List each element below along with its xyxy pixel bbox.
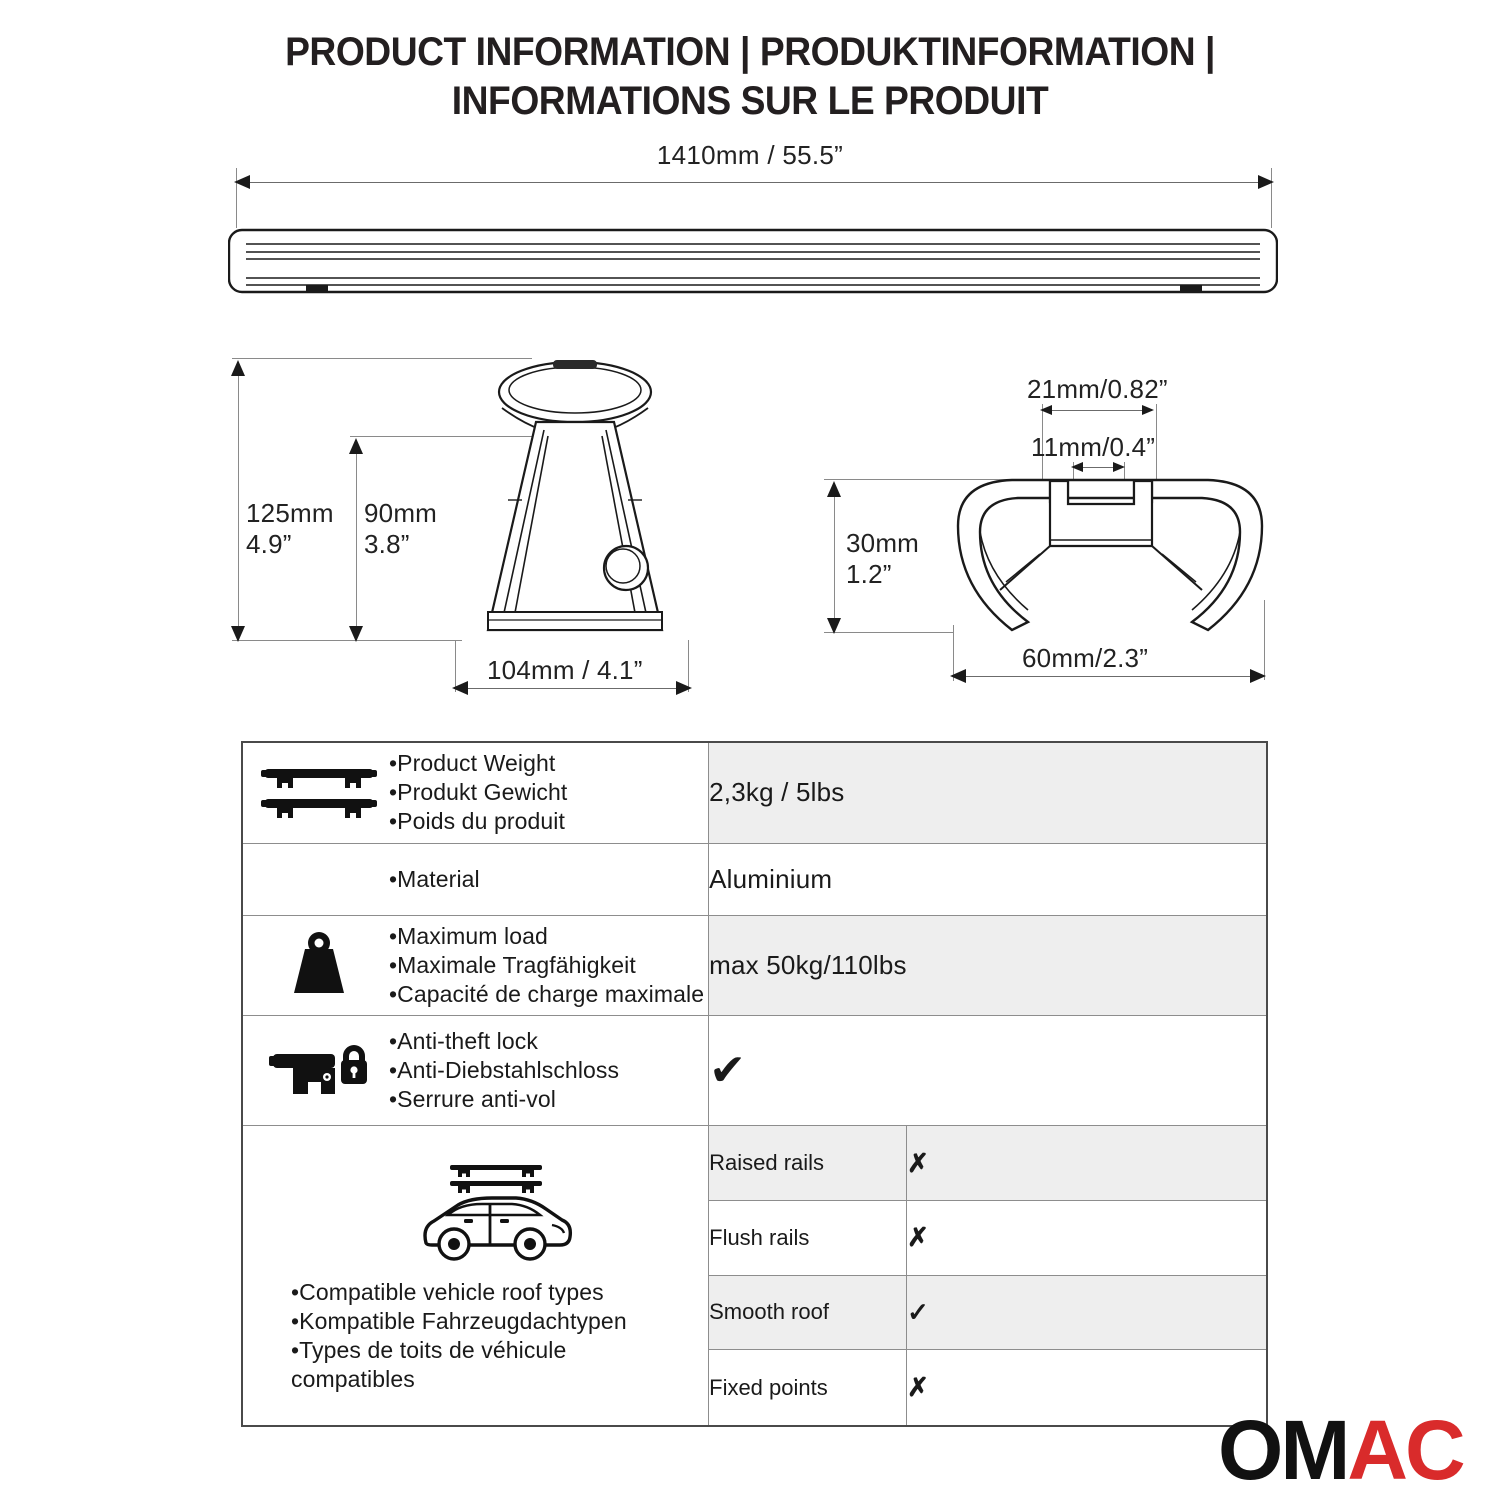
label-fr: •Serrure anti-vol xyxy=(389,1085,619,1114)
profile-ext-bottom xyxy=(824,632,954,633)
bar-length-label: 1410mm / 55.5” xyxy=(0,140,1500,171)
material-label-cell: •Material xyxy=(242,843,709,915)
label-de: •Maximale Tragfähigkeit xyxy=(389,951,704,980)
rooftype-name: Flush rails xyxy=(709,1200,907,1275)
arrow-left-icon xyxy=(1040,405,1052,415)
maxload-label-cell: •Maximum load •Maximale Tragfähigkeit •C… xyxy=(242,915,709,1016)
dim-base-width: 104mm / 4.1” xyxy=(487,655,643,686)
weight-icon xyxy=(253,931,385,999)
arrow-down-icon xyxy=(349,626,363,642)
arrow-right-icon xyxy=(1258,175,1274,189)
specification-table: •Product Weight •Produkt Gewicht •Poids … xyxy=(241,741,1268,1427)
label-fr-cont: compatibles xyxy=(291,1365,627,1394)
arrow-left-icon xyxy=(452,681,468,695)
dim-60-line xyxy=(960,676,1256,677)
dim-profile-width: 60mm/2.3” xyxy=(1022,643,1148,674)
logo-text-red: AC xyxy=(1347,1403,1462,1497)
lock-icon xyxy=(253,1040,385,1102)
label-fr: •Types de toits de véhicule xyxy=(291,1336,627,1365)
label-en: •Product Weight xyxy=(389,749,567,778)
crossbars-icon xyxy=(253,763,385,823)
table-row: •Anti-theft lock •Anti-Diebstahlschloss … xyxy=(242,1016,1267,1126)
label-fr: •Poids du produit xyxy=(389,807,567,836)
rooftypes-labels: •Compatible vehicle roof types •Kompatib… xyxy=(291,1278,627,1395)
label-de: •Kompatible Fahrzeugdachtypen xyxy=(291,1307,627,1336)
table-row: •Product Weight •Produkt Gewicht •Poids … xyxy=(242,742,1267,843)
dim-60-ext-right xyxy=(1264,600,1265,680)
weight-value: 2,3kg / 5lbs xyxy=(709,742,1267,843)
label-en: •Compatible vehicle roof types xyxy=(291,1278,627,1307)
dim-125-line xyxy=(238,372,239,628)
rooftypes-label-cell: •Compatible vehicle roof types •Kompatib… xyxy=(242,1126,709,1426)
dim-total-height: 125mm 4.9” xyxy=(246,498,334,559)
title-line-1: PRODUCT INFORMATION | PRODUKTINFORMATION… xyxy=(53,28,1448,77)
arrow-down-icon xyxy=(827,618,841,634)
arrow-right-icon xyxy=(1250,669,1266,683)
arrow-left-icon xyxy=(950,669,966,683)
material-value: Aluminium xyxy=(709,843,1267,915)
foot-ext-bottom xyxy=(232,640,462,641)
crossbar-side-view xyxy=(228,222,1278,302)
label-en: •Maximum load xyxy=(389,922,704,951)
label-en: •Material xyxy=(389,865,480,894)
rooftype-name: Raised rails xyxy=(709,1126,907,1201)
omac-logo: OMAC xyxy=(1218,1408,1463,1492)
arrow-up-icon xyxy=(349,438,363,454)
dim-30-line xyxy=(834,492,835,620)
lock-value: ✔ xyxy=(709,1016,1267,1126)
dim-slot-inner: 11mm/0.4” xyxy=(1031,432,1155,463)
table-row: •Compatible vehicle roof types •Kompatib… xyxy=(242,1126,1267,1201)
table-row: •Material Aluminium xyxy=(242,843,1267,915)
check-icon: ✔ xyxy=(709,1046,746,1095)
foot-front-view xyxy=(440,350,710,650)
dim-bar-height: 90mm 3.8” xyxy=(364,498,437,559)
rooftype-mark: ✗ xyxy=(907,1126,1267,1201)
arrow-up-icon xyxy=(231,360,245,376)
title-line-2: INFORMATIONS SUR LE PRODUIT xyxy=(53,77,1448,126)
rooftype-mark: ✗ xyxy=(907,1350,1267,1426)
bar-length-dimension-line xyxy=(244,182,1264,183)
table-row: •Maximum load •Maximale Tragfähigkeit •C… xyxy=(242,915,1267,1016)
rooftype-mark: ✓ xyxy=(907,1275,1267,1350)
dim-90-line xyxy=(356,450,357,628)
label-en: •Anti-theft lock xyxy=(389,1027,619,1056)
arrow-down-icon xyxy=(231,626,245,642)
dim-profile-height: 30mm 1.2” xyxy=(846,528,919,589)
rooftype-name: Fixed points xyxy=(709,1350,907,1426)
weight-labels: •Product Weight •Produkt Gewicht •Poids … xyxy=(389,749,567,837)
weight-label-cell: •Product Weight •Produkt Gewicht •Poids … xyxy=(242,742,709,843)
lock-labels: •Anti-theft lock •Anti-Diebstahlschloss … xyxy=(389,1027,619,1115)
lock-label-cell: •Anti-theft lock •Anti-Diebstahlschloss … xyxy=(242,1016,709,1126)
dim-slot-outer: 21mm/0.82” xyxy=(1027,374,1168,405)
label-fr: •Capacité de charge maximale xyxy=(389,980,704,1009)
label-de: •Produkt Gewicht xyxy=(389,778,567,807)
maxload-labels: •Maximum load •Maximale Tragfähigkeit •C… xyxy=(389,922,704,1010)
material-labels: •Material xyxy=(389,865,480,894)
logo-text-dark: OM xyxy=(1218,1403,1347,1497)
dim-104-line xyxy=(462,688,682,689)
rooftype-mark: ✗ xyxy=(907,1200,1267,1275)
car-with-crossbars-icon xyxy=(412,1157,578,1272)
arrow-right-icon xyxy=(1142,405,1154,415)
arrow-up-icon xyxy=(827,481,841,497)
arrow-right-icon xyxy=(676,681,692,695)
arrow-left-icon xyxy=(234,175,250,189)
crossbar-profile-section xyxy=(940,470,1280,646)
rooftype-name: Smooth roof xyxy=(709,1275,907,1350)
page-title: PRODUCT INFORMATION | PRODUKTINFORMATION… xyxy=(0,28,1500,126)
label-de: •Anti-Diebstahlschloss xyxy=(389,1056,619,1085)
product-information-sheet: PRODUCT INFORMATION | PRODUKTINFORMATION… xyxy=(0,0,1500,1500)
dim-21-line xyxy=(1048,410,1152,411)
maxload-value: max 50kg/110lbs xyxy=(709,915,1267,1016)
